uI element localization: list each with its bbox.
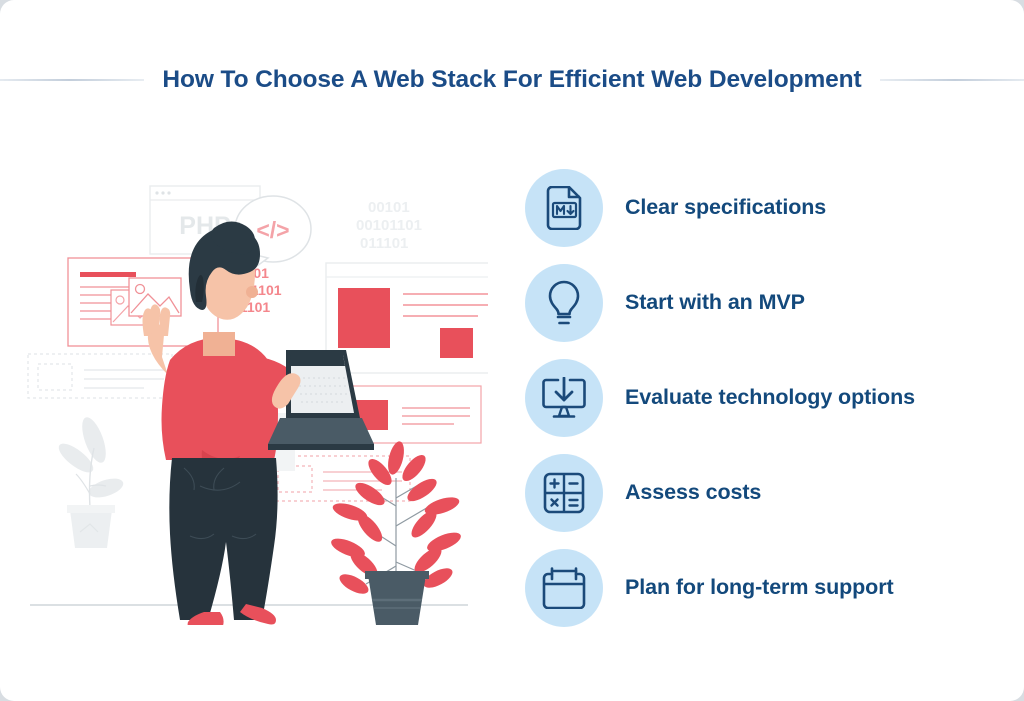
wireframe-mockup-gray (28, 354, 172, 398)
svg-text:00101: 00101 (368, 199, 410, 216)
checklist-item-start-with-an-mvp[interactable]: Start with an MVP (525, 255, 995, 350)
person-pants (169, 458, 277, 620)
checklist-label: Clear specifications (625, 195, 826, 220)
checklist-item-evaluate-technology-options[interactable]: Evaluate technology options (525, 350, 995, 445)
monitor-download-icon (525, 359, 603, 437)
infographic-page: How To Choose A Web Stack For Efficient … (0, 0, 1024, 701)
header-rule-right (880, 79, 1024, 81)
person-neck (203, 332, 235, 356)
person-ear (246, 286, 258, 298)
calculator-icon (525, 454, 603, 532)
svg-text:011101: 011101 (360, 235, 408, 252)
lightbulb-icon (525, 264, 603, 342)
page-header: How To Choose A Web Stack For Efficient … (0, 60, 1024, 100)
checklist-item-assess-costs[interactable]: Assess costs (525, 445, 995, 540)
page-title: How To Choose A Web Stack For Efficient … (162, 66, 861, 94)
checklist-label: Start with an MVP (625, 290, 805, 315)
binary-text-gray: 00101 00101101 011101 (356, 199, 422, 252)
checklist-item-plan-for-long-term-support[interactable]: Plan for long-term support (525, 540, 995, 635)
content-card-mockup (326, 263, 488, 373)
plant-red (329, 440, 464, 625)
checklist-item-clear-specifications[interactable]: Clear specifications (525, 160, 995, 255)
checklist-label: Evaluate technology options (625, 385, 915, 410)
code-bubble-label: </> (256, 217, 289, 243)
markdown-document-icon (525, 169, 603, 247)
web-developer-illustration: PHP 00101 00101101 011101 (18, 150, 488, 625)
plant-gray (55, 414, 126, 548)
person-shoe-right (240, 604, 276, 625)
checklist-label: Assess costs (625, 480, 761, 505)
checklist-label: Plan for long-term support (625, 575, 894, 600)
svg-text:00101101: 00101101 (356, 217, 422, 234)
person-torso (162, 338, 279, 460)
calendar-icon (525, 549, 603, 627)
checklist: Clear specifications Start with an MVP (525, 160, 995, 635)
header-rule-left (0, 79, 144, 81)
